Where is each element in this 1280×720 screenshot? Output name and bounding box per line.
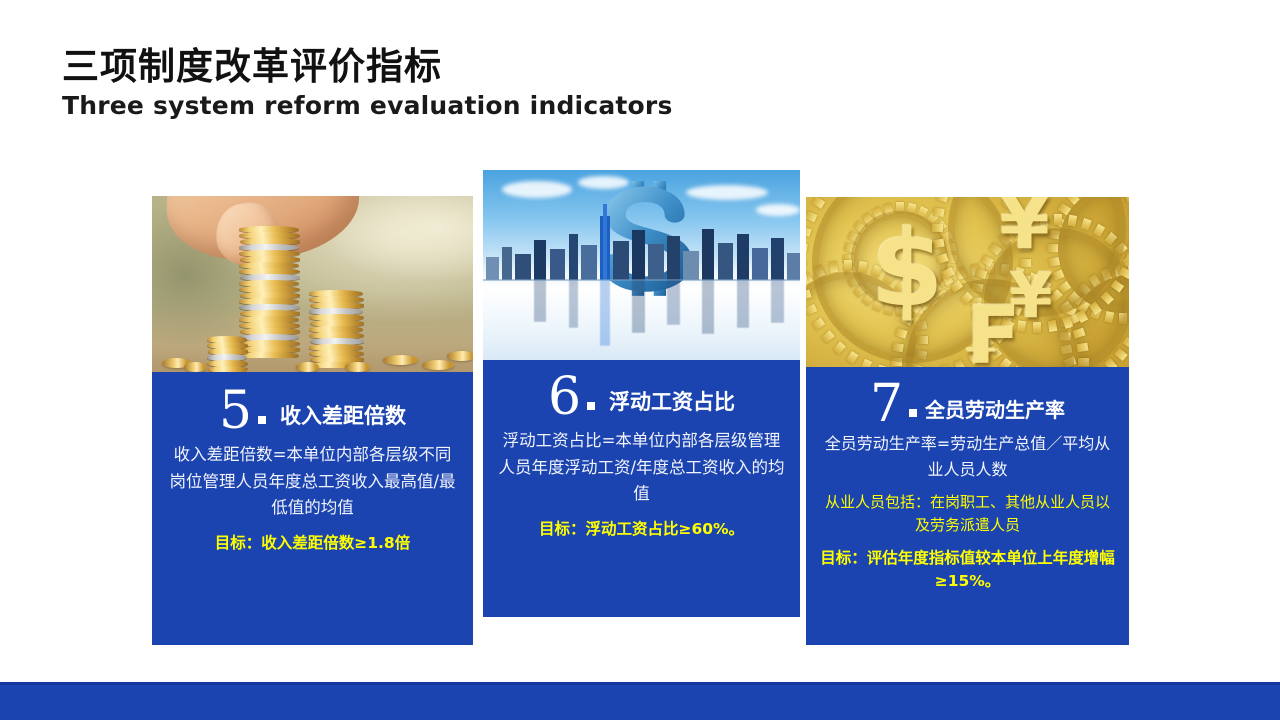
bullet-square-icon [909,409,917,417]
slide-title-block: 三项制度改革评价指标 Three system reform evaluatio… [62,48,673,119]
card-5-number: 5 [219,388,252,436]
card-6-goal: 目标：浮动工资占比≥60%。 [497,518,786,541]
card-6-description: 浮动工资占比=本单位内部各层级管理人员年度浮动工资/年度总工资收入的均值 [497,428,786,508]
dollar-currency-icon: $ [871,217,944,322]
card-7-title: 全员劳动生产率 [925,400,1065,420]
indicator-card-5[interactable]: 5 收入差距倍数 收入差距倍数=本单位内部各层级不同岗位管理人员年度总工资收入最… [152,196,473,645]
page-title-cn: 三项制度改革评价指标 [62,48,673,87]
card-5-goal: 目标：收入差距倍数≥1.8倍 [166,532,459,555]
city-dollar-photo [483,170,800,360]
card-7-description: 全员劳动生产率=劳动生产总值／平均从业人员人数 [820,431,1115,483]
franc-currency-icon: ₣ [961,296,1017,367]
card-7-heading: 7 全员劳动生产率 [820,381,1115,429]
indicator-card-7[interactable]: $ ¥ ¥ ₣ 7 全员劳动生产率 全员劳动生产率=劳动生产总值／平均从业人员人… [806,197,1129,645]
card-5-panel: 5 收入差距倍数 收入差距倍数=本单位内部各层级不同岗位管理人员年度总工资收入最… [152,372,473,645]
page-title-en: Three system reform evaluation indicator… [62,92,673,120]
bullet-square-icon [587,402,595,410]
footer-bar [0,682,1280,720]
card-6-heading: 6 浮动工资占比 [497,374,786,422]
card-7-goal: 目标：评估年度指标值较本单位上年度增幅≥15%。 [820,547,1115,594]
card-5-description: 收入差距倍数=本单位内部各层级不同岗位管理人员年度总工资收入最高值/最低值的均值 [166,442,459,522]
yen-currency-icon: ¥ [1000,197,1050,259]
skyline-shape [483,216,800,281]
card-7-panel: 7 全员劳动生产率 全员劳动生产率=劳动生产总值／平均从业人员人数 从业人员包括… [806,367,1129,645]
bullet-square-icon [258,416,266,424]
card-5-heading: 5 收入差距倍数 [166,388,459,436]
slide-canvas: 三项制度改革评价指标 Three system reform evaluatio… [0,0,1280,720]
card-6-title: 浮动工资占比 [609,392,735,413]
card-6-panel: 6 浮动工资占比 浮动工资占比=本单位内部各层级管理人员年度浮动工资/年度总工资… [483,360,800,617]
card-7-note: 从业人员包括：在岗职工、其他从业人员以及劳务派遣人员 [820,491,1115,538]
coins-stack-photo [152,196,473,372]
indicator-card-6[interactable]: 6 浮动工资占比 浮动工资占比=本单位内部各层级管理人员年度浮动工资/年度总工资… [483,170,800,617]
card-6-number: 6 [548,374,581,422]
card-5-title: 收入差距倍数 [280,406,406,427]
gold-gears-photo: $ ¥ ¥ ₣ [806,197,1129,367]
card-7-number: 7 [870,381,903,429]
